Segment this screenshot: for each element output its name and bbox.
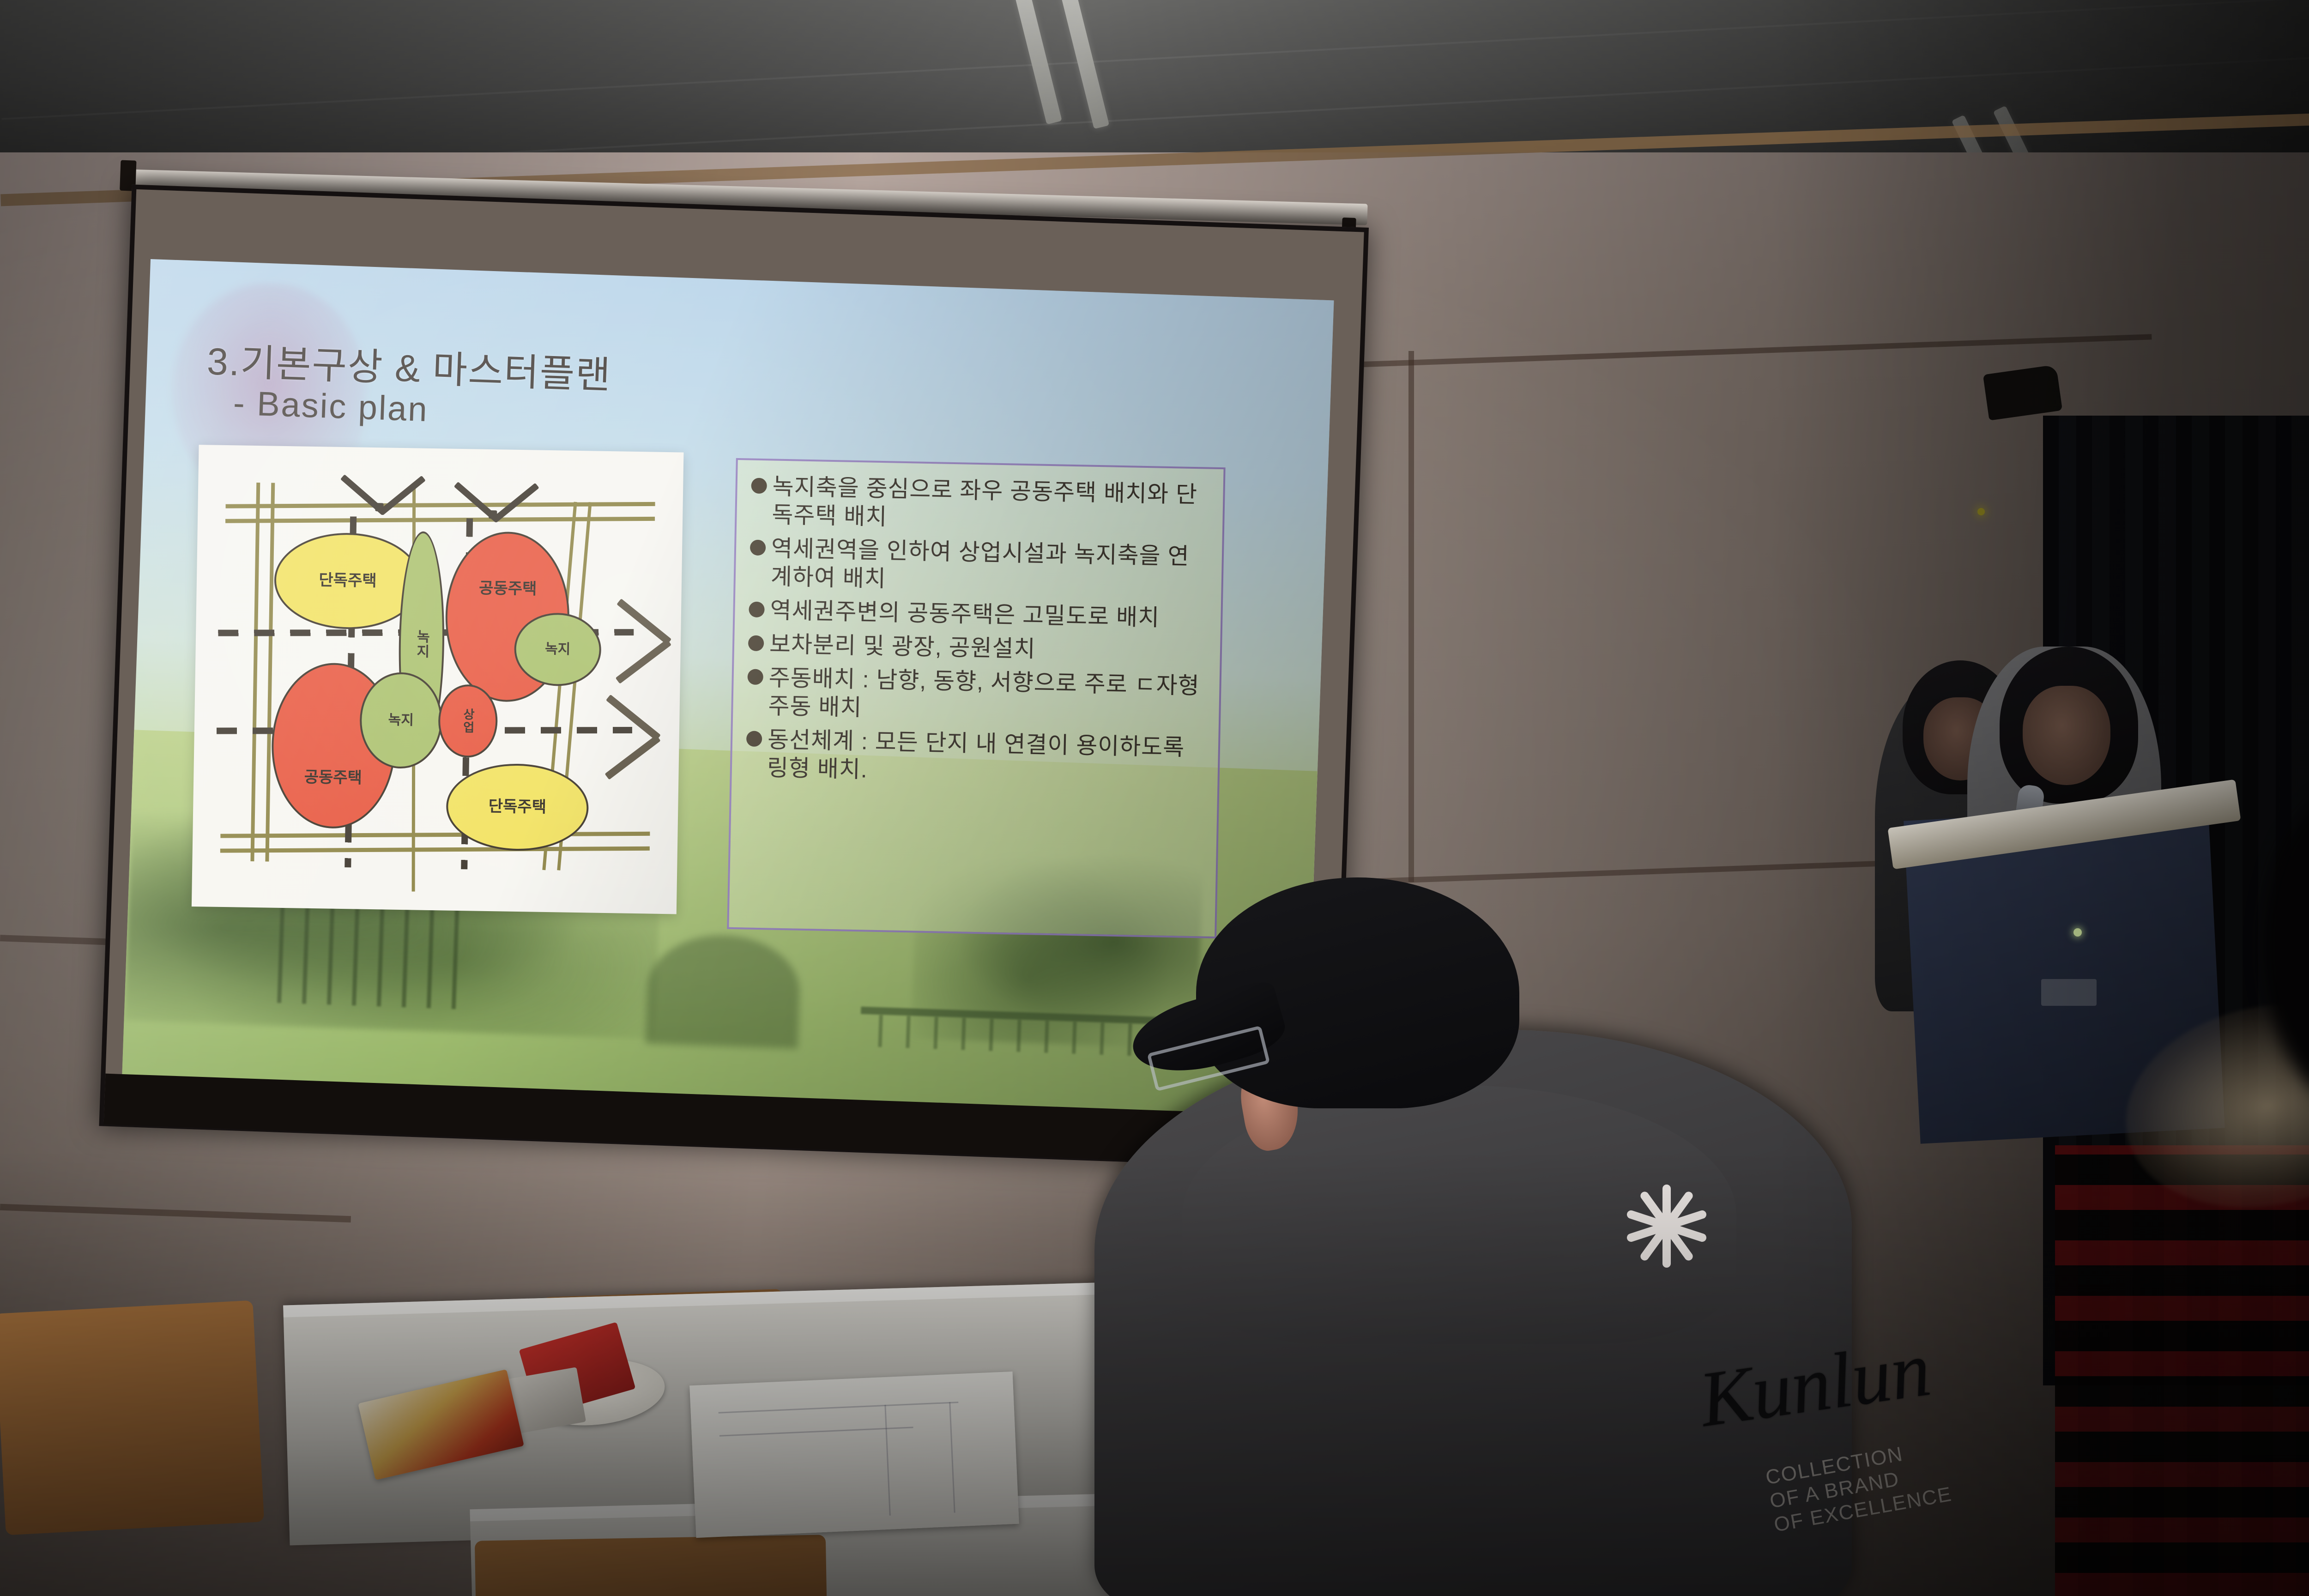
lecture-room-scene: 3.기본구상 & 마스터플랜 - Basic plan (0, 0, 2309, 1596)
paper-rule (719, 1427, 913, 1436)
presentation-slide: 3.기본구상 & 마스터플랜 - Basic plan (122, 259, 1334, 1122)
chair[interactable] (0, 1300, 264, 1536)
podium-name-plate (2041, 979, 2097, 1006)
paper-column-line (884, 1405, 890, 1516)
paper-column-line (949, 1402, 955, 1513)
chair[interactable] (475, 1535, 828, 1596)
podium-indicator-led-icon (2073, 928, 2082, 937)
presenter-front-face (2023, 686, 2110, 785)
fur-hood-viewer-jacket (2055, 1145, 2309, 1596)
maple-leaf-emblem-icon (1626, 1185, 1709, 1268)
slide-light-falloff (122, 259, 1334, 1122)
paper-rule (719, 1402, 959, 1414)
handout-papers (689, 1372, 1019, 1538)
